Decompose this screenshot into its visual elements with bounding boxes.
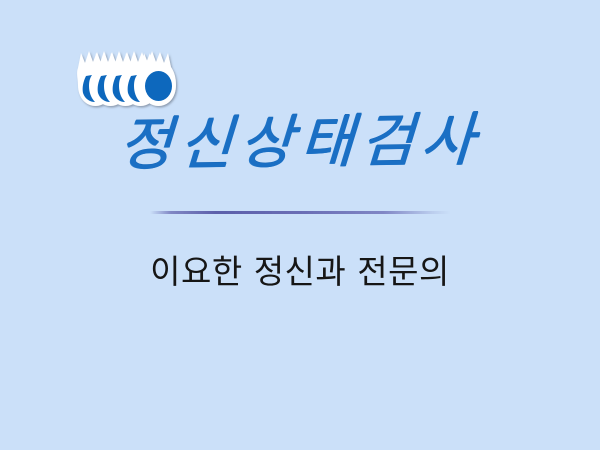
title-divider: [150, 211, 450, 214]
title-slide: 정신상태검사 이요한 정신과 전문의: [0, 0, 600, 450]
slide-title-text: 정신상태검사: [117, 109, 483, 175]
logo-mark-icon: [76, 42, 188, 112]
slide-title: 정신상태검사: [0, 112, 600, 173]
logo: [76, 42, 188, 112]
slide-subtitle-text: 이요한 정신과 전문의: [150, 252, 450, 292]
slide-subtitle: 이요한 정신과 전문의: [0, 252, 600, 292]
